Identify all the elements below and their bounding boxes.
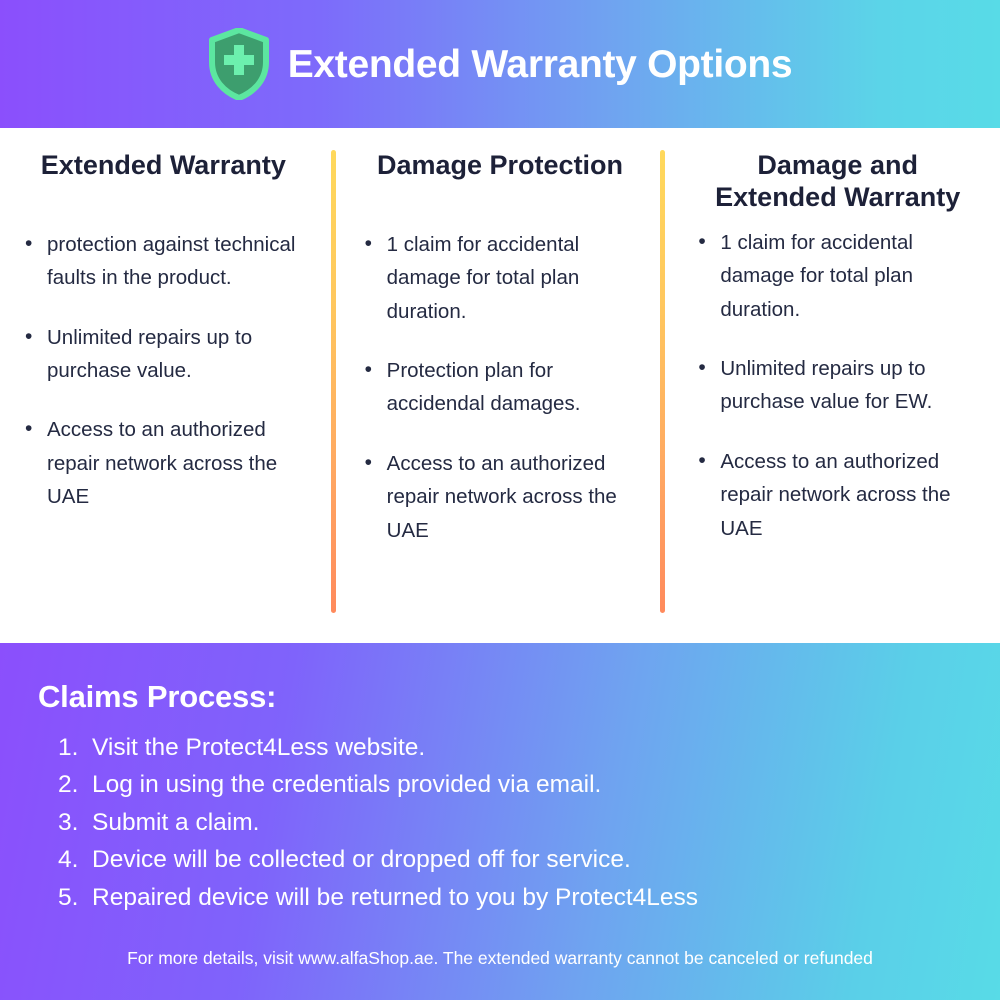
plan-column-extended-warranty: Extended Warranty protection against tec… <box>0 128 331 643</box>
claims-process-section: Claims Process: Visit the Protect4Less w… <box>0 643 1000 1000</box>
claims-step: Repaired device will be returned to you … <box>58 879 1000 916</box>
claims-step: Device will be collected or dropped off … <box>58 841 1000 878</box>
feature-item: Access to an authorized repair network a… <box>362 447 639 547</box>
footer-note: For more details, visit www.alfaShop.ae.… <box>0 947 1000 970</box>
comparison-section: Extended Warranty protection against tec… <box>0 128 1000 643</box>
feature-list: 1 claim for accidental damage for total … <box>695 226 980 545</box>
claims-step: Log in using the credentials provided vi… <box>58 766 1000 803</box>
feature-item: Access to an authorized repair network a… <box>22 413 305 513</box>
feature-item: Unlimited repairs up to purchase value f… <box>695 352 980 419</box>
feature-item: Unlimited repairs up to purchase value. <box>22 321 305 388</box>
column-heading: Extended Warranty <box>22 150 305 182</box>
page-title: Extended Warranty Options <box>288 45 793 84</box>
feature-list: 1 claim for accidental damage for total … <box>362 228 639 547</box>
feature-item: Protection plan for accidendal damages. <box>362 354 639 421</box>
claims-step: Visit the Protect4Less website. <box>58 729 1000 766</box>
feature-item: 1 claim for accidental damage for total … <box>695 226 980 326</box>
claims-process-title: Claims Process: <box>38 679 1000 715</box>
feature-item: 1 claim for accidental damage for total … <box>362 228 639 328</box>
shield-plus-icon <box>208 28 270 100</box>
feature-list: protection against technical faults in t… <box>22 228 305 514</box>
plan-column-damage-and-extended-warranty: Damage and Extended Warranty 1 claim for… <box>665 128 1000 643</box>
claims-steps-list: Visit the Protect4Less website. Log in u… <box>58 729 1000 916</box>
header-banner: Extended Warranty Options <box>0 0 1000 128</box>
feature-item: Access to an authorized repair network a… <box>695 445 980 545</box>
plan-column-damage-protection: Damage Protection 1 claim for accidental… <box>336 128 661 643</box>
claims-step: Submit a claim. <box>58 804 1000 841</box>
feature-item: protection against technical faults in t… <box>22 228 305 295</box>
column-heading: Damage Protection <box>362 150 639 182</box>
column-heading: Damage and Extended Warranty <box>695 150 980 214</box>
warranty-options-infographic: Extended Warranty Options Extended Warra… <box>0 0 1000 1000</box>
